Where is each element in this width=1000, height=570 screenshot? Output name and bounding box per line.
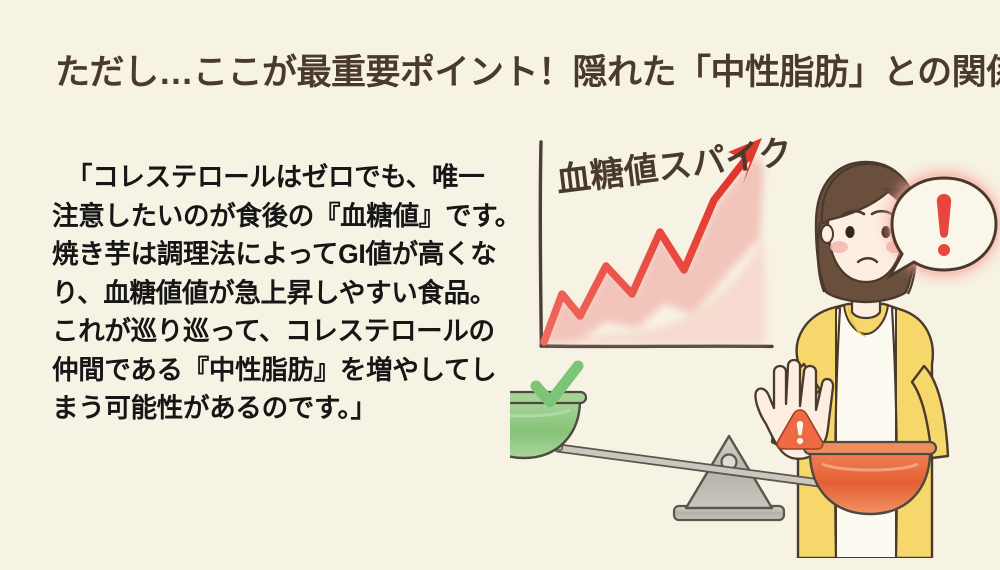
body-line: 注意したいのが食後の『血糖値』です。 — [52, 197, 512, 236]
body-line: 焼き芋は調理法によってGI値が高くな — [52, 235, 512, 274]
body-line: これが巡り巡って、コレステロールの — [52, 312, 512, 351]
body-line: 仲間である『中性脂肪』を増やしてし — [52, 351, 512, 390]
body-line: まう可能性があるのです。」 — [52, 389, 512, 428]
body-line: 「コレステロールはゼロでも、唯一 — [52, 158, 512, 197]
body-line: り、血糖値値が急上昇しやすい食品。 — [52, 274, 512, 313]
exclamation-speech-bubble — [888, 172, 1000, 276]
body-paragraph: 「コレステロールはゼロでも、唯一 注意したいのが食後の『血糖値』です。 焼き芋は… — [52, 158, 512, 428]
illustration: 血糖値スパイク — [510, 118, 1000, 558]
page-title: ただし…ここが最重要ポイント！隠れた「中性脂肪」との関係。 — [55, 52, 955, 94]
slide-canvas: ただし…ここが最重要ポイント！隠れた「中性脂肪」との関係。 「コレステロールはゼ… — [0, 0, 1000, 558]
